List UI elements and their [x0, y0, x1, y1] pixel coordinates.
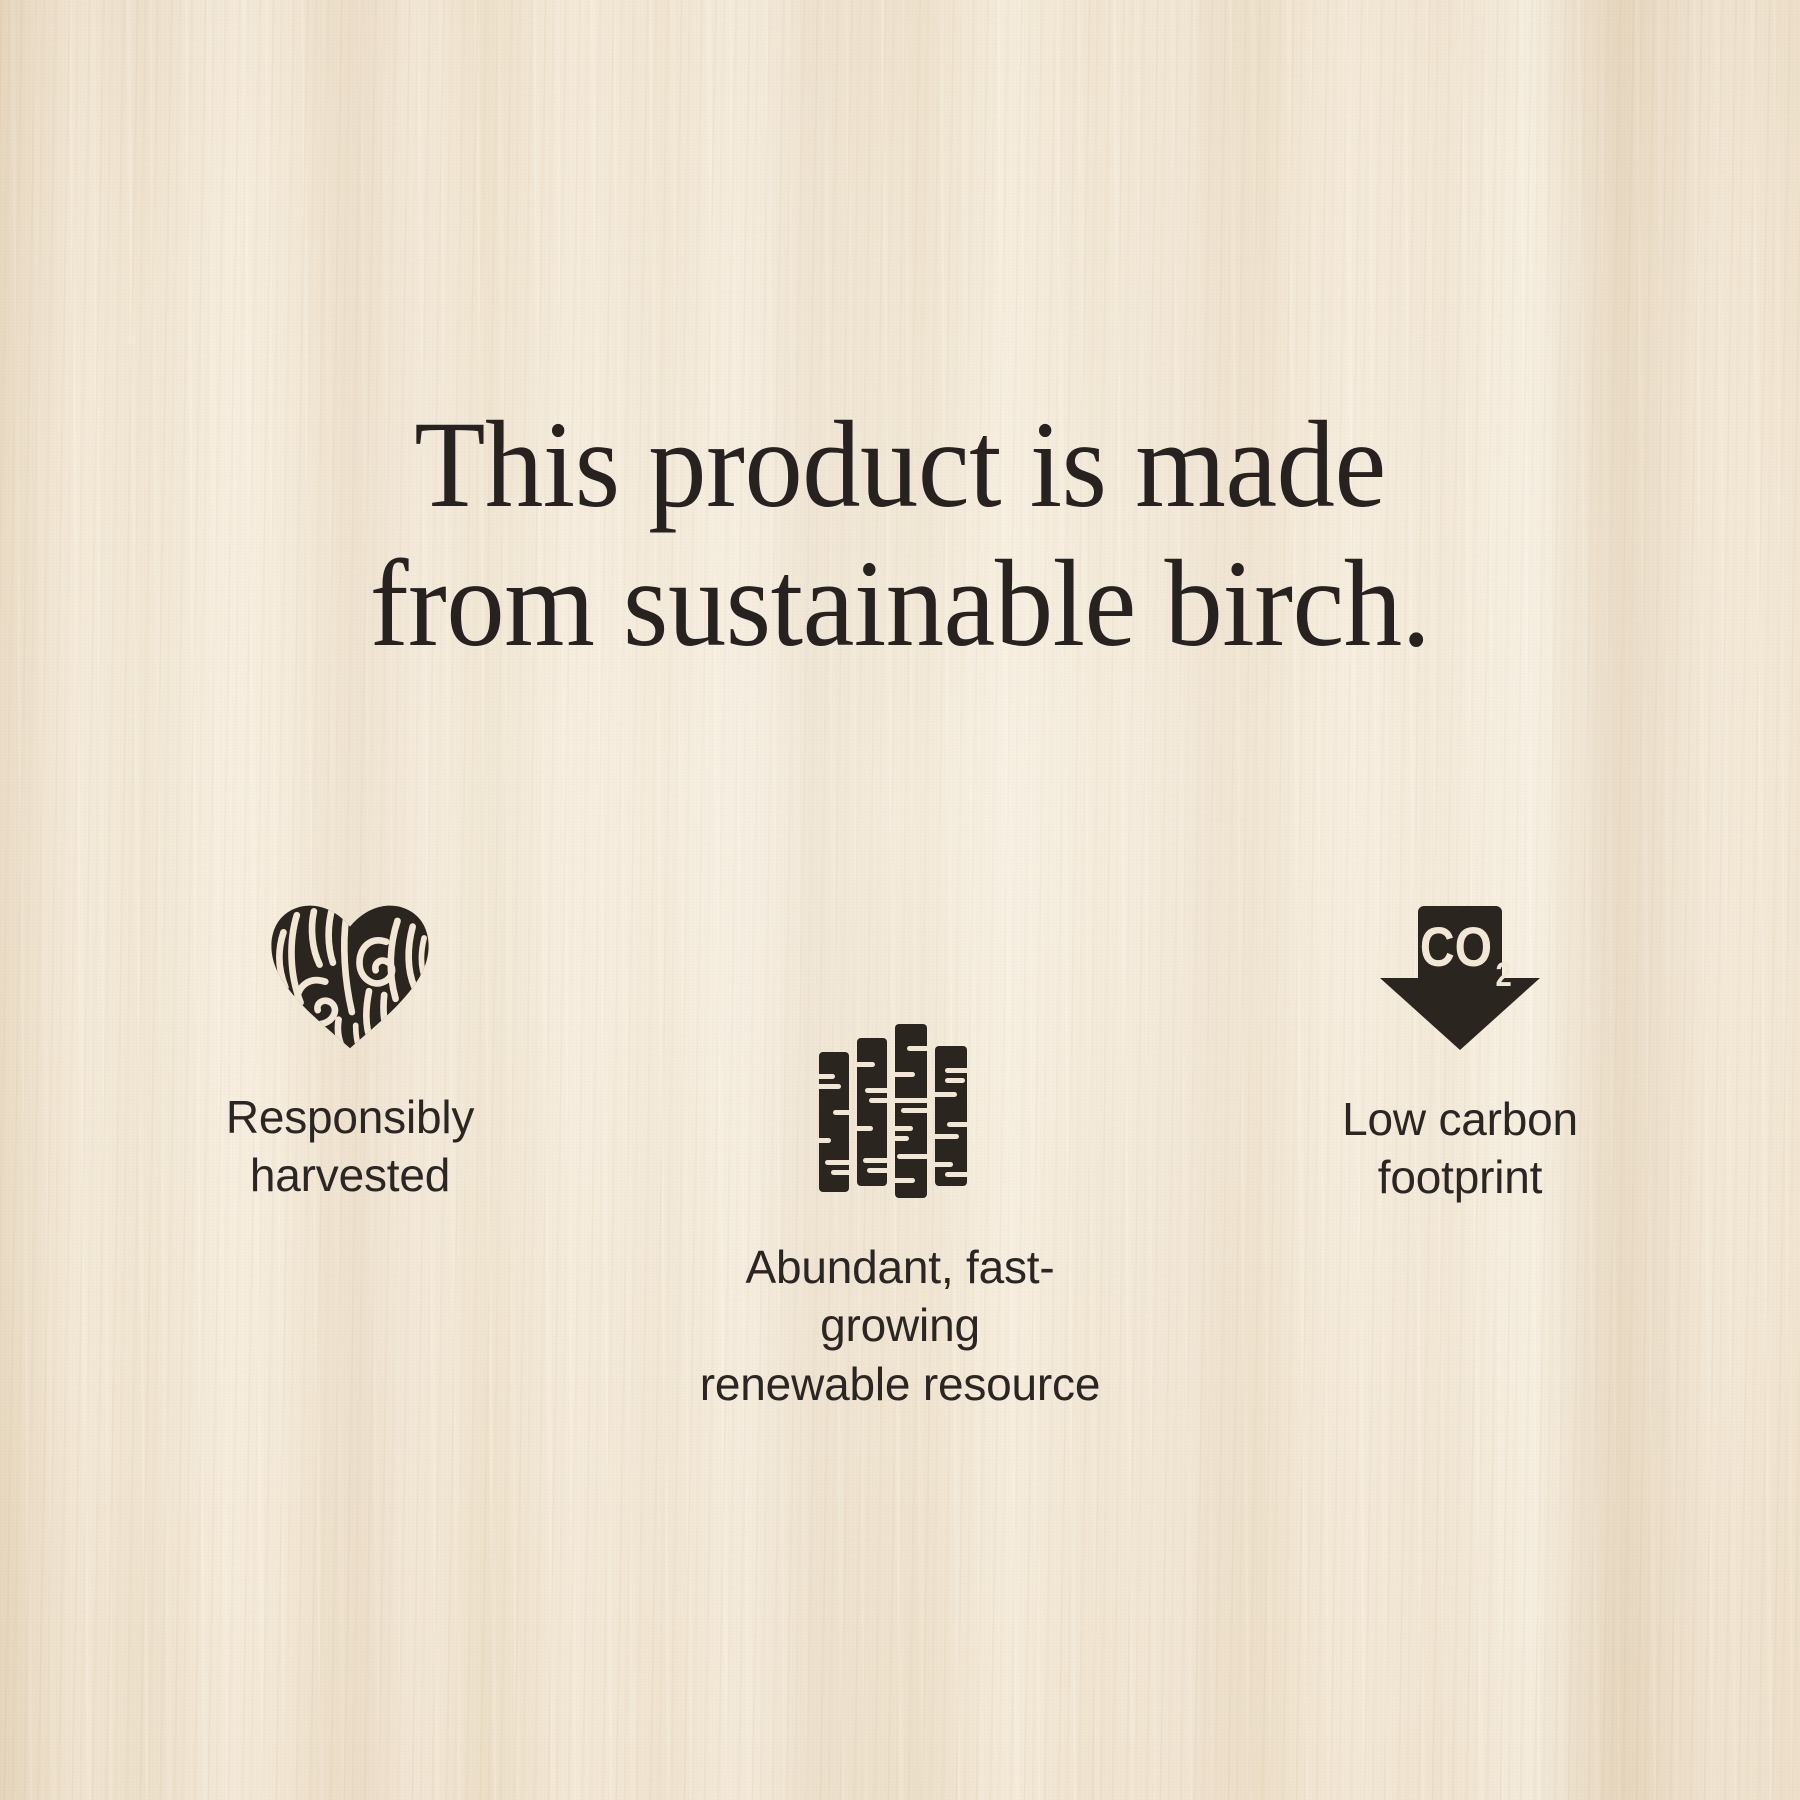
co2-down-arrow-icon: CO 2 [1372, 900, 1548, 1054]
wood-grain-heart-icon [264, 900, 436, 1052]
birch-trunks-icon [815, 1022, 985, 1202]
feature-caption: Abundant, fast-growing renewable resourc… [680, 1238, 1120, 1413]
sustainable-birch-poster: This product is made from sustainable bi… [0, 0, 1800, 1800]
feature-low-carbon-footprint: CO 2 Low carbon footprint [1240, 900, 1680, 1207]
co2-label: CO [1420, 917, 1492, 979]
poster-content: This product is made from sustainable bi… [0, 0, 1800, 1800]
feature-responsibly-harvested: Responsibly harvested [130, 900, 570, 1205]
feature-renewable-resource: Abundant, fast-growing renewable resourc… [680, 1022, 1120, 1413]
feature-row: Responsibly harvested [0, 900, 1800, 1420]
feature-caption: Responsibly harvested [130, 1088, 570, 1205]
co2-subscript: 2 [1495, 955, 1511, 994]
feature-caption: Low carbon footprint [1240, 1090, 1680, 1207]
page-title: This product is made from sustainable bi… [54, 396, 1746, 674]
